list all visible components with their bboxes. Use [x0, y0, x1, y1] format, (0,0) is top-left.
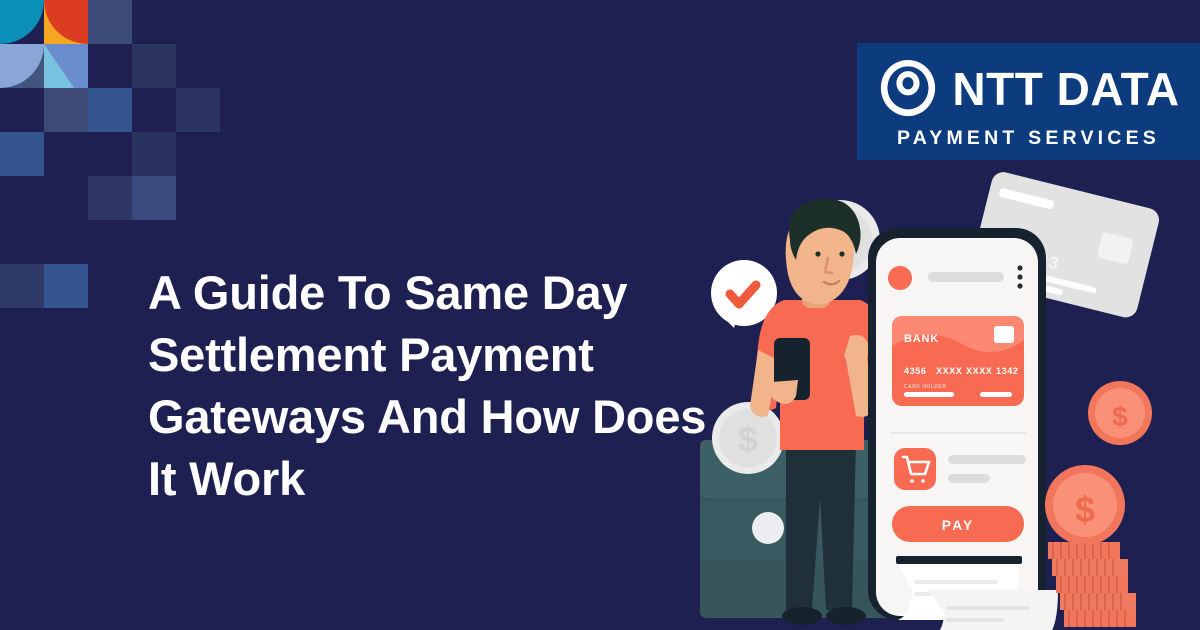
banner-root: A Guide To Same Day Settlement Payment G… [0, 0, 1200, 630]
phone-device: BANK 4356 XXXX XXXX 1342 CARD HOLDER [868, 228, 1046, 620]
mosaic-cell [132, 44, 176, 88]
logo-wordmark: NTT DATA [952, 66, 1179, 112]
dollar-coin-coral: $ [1088, 381, 1152, 445]
pay-button: PAY [892, 506, 1024, 542]
mosaic-cell [88, 0, 132, 44]
title-block: A Guide To Same Day Settlement Payment G… [148, 262, 708, 510]
svg-text:$: $ [738, 419, 758, 460]
logo-subtitle: PAYMENT SERVICES [897, 127, 1160, 150]
mosaic-cell [88, 176, 132, 220]
quadrant-lightblue [0, 44, 44, 88]
dollar-coin-coral: $ [1045, 465, 1125, 545]
svg-text:PAY: PAY [942, 517, 974, 533]
mosaic-cell [176, 88, 220, 132]
mobile-payment-illustration: 789 123 $ $ [690, 150, 1200, 630]
mosaic-cell [0, 264, 44, 308]
color-quadrant-logo-fragment-icon [0, 0, 88, 88]
dollar-coin-silver: $ [712, 402, 784, 474]
bank-card: BANK 4356 XXXX XXXX 1342 CARD HOLDER [892, 316, 1024, 406]
mosaic-cell [132, 132, 176, 176]
card-chip-icon [994, 326, 1014, 343]
ntt-data-logo: NTT DATA PAYMENT SERVICES [857, 43, 1200, 160]
avatar-dot-icon [888, 266, 912, 290]
quadrant-teal [0, 0, 44, 44]
quadrant-slate [0, 44, 44, 88]
mosaic-cell [88, 88, 132, 132]
svg-text:XXXX: XXXX [936, 366, 962, 376]
svg-text:$: $ [1112, 401, 1128, 432]
mosaic-cell [44, 264, 88, 308]
svg-text:4356: 4356 [904, 366, 926, 376]
logo-row: NTT DATA [877, 58, 1179, 120]
coin-stack-icon [1048, 542, 1136, 627]
svg-text:1342: 1342 [996, 366, 1018, 376]
mosaic-cell [0, 132, 44, 176]
svg-text:CARD HOLDER: CARD HOLDER [904, 384, 946, 390]
svg-text:XXXX: XXXX [966, 366, 992, 376]
mosaic-cell [44, 220, 88, 264]
kebab-menu-icon [1017, 265, 1022, 288]
mosaic-cell [44, 88, 88, 132]
svg-text:$: $ [1075, 489, 1095, 530]
mosaic-cell [132, 176, 176, 220]
svg-text:BANK: BANK [904, 333, 939, 345]
ntt-circle-droplet-icon [877, 58, 939, 120]
page-title: A Guide To Same Day Settlement Payment G… [148, 262, 708, 510]
